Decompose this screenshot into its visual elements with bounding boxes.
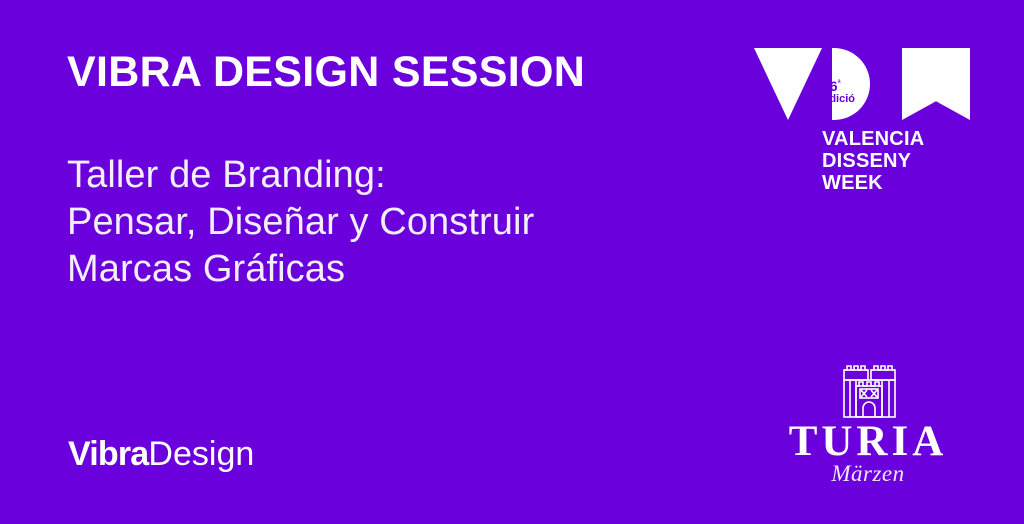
bookmark-w-icon bbox=[902, 48, 970, 120]
triangle-v-icon bbox=[754, 48, 822, 120]
vibra-logo-light-text: Design bbox=[148, 435, 254, 473]
vdw-wordmark-line-2: DISSENY bbox=[822, 150, 924, 172]
turia-wordmark: TURIA bbox=[768, 420, 968, 463]
edition-badge: 16ª Edició bbox=[822, 79, 855, 105]
vibra-design-logo: VibraDesign bbox=[68, 437, 254, 471]
vdw-wordmark-line-1: VALENCIA bbox=[822, 128, 924, 150]
subtitle-line-2: Pensar, Diseñar y Construir bbox=[67, 199, 534, 246]
edition-number-value: 16 bbox=[822, 78, 838, 94]
vdw-wordmark: VALENCIA DISSENY WEEK bbox=[822, 128, 924, 194]
edition-label: Edició bbox=[822, 94, 855, 106]
vdw-wordmark-line-3: WEEK bbox=[822, 172, 924, 194]
vdw-letter-marks: 16ª Edició bbox=[754, 48, 970, 120]
valencia-disseny-week-logo: 16ª Edició VALENCIA DISSENY WEEK bbox=[754, 48, 970, 196]
subtitle: Taller de Branding: Pensar, Diseñar y Co… bbox=[67, 152, 534, 293]
turia-logo: TURIA Märzen bbox=[768, 360, 968, 485]
page-title: VIBRA DESIGN SESSION bbox=[67, 50, 585, 95]
event-banner: VIBRA DESIGN SESSION Taller de Branding:… bbox=[0, 0, 1024, 524]
vibra-logo-bold-text: Vibra bbox=[68, 435, 148, 473]
edition-number: 16ª bbox=[822, 79, 855, 94]
castle-gate-icon bbox=[834, 360, 902, 418]
subtitle-line-3: Marcas Gráficas bbox=[67, 246, 534, 293]
subtitle-line-1: Taller de Branding: bbox=[67, 152, 534, 199]
edition-ordinal: ª bbox=[838, 78, 841, 87]
